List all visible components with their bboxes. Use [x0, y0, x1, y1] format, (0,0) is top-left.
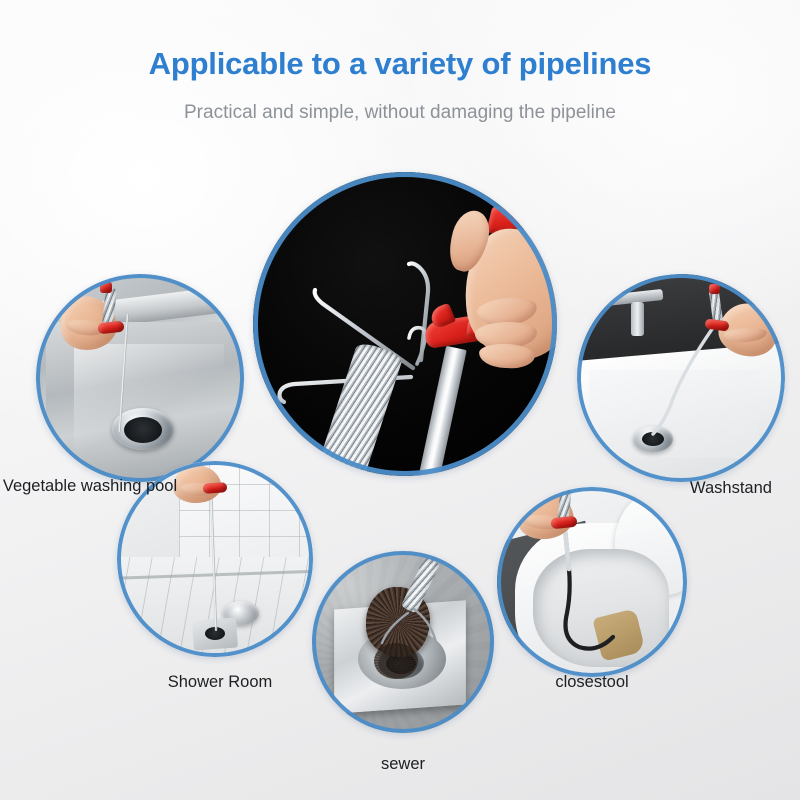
scene-sewer: [312, 551, 494, 733]
red-end-cap: [100, 282, 112, 293]
label-vegetable-washing-pool: Vegetable washing pool: [0, 476, 180, 497]
label-closestool: closestool: [497, 672, 687, 693]
label-shower-room: Shower Room: [126, 672, 314, 693]
label-sewer: sewer: [312, 754, 494, 775]
scene-washstand: [577, 274, 785, 482]
scene-vegetable-washing-pool: [36, 274, 244, 482]
scene-closestool: [497, 487, 687, 677]
product-closeup-illustration: [253, 172, 557, 476]
red-grip-handle: [203, 482, 228, 494]
claw-grabber-icon: [312, 551, 494, 733]
sewer-illustration: [312, 551, 494, 733]
scene-product-closeup: [253, 172, 557, 476]
label-washstand: Washstand: [663, 478, 799, 499]
washstand-illustration: [577, 274, 785, 482]
red-end-cap: [709, 284, 720, 294]
sink-illustration: [36, 274, 244, 482]
sink-drain-hole: [124, 417, 162, 443]
page-title: Applicable to a variety of pipelines: [0, 46, 800, 82]
closestool-illustration: [497, 487, 687, 677]
infographic-canvas: Applicable to a variety of pipelines Pra…: [0, 0, 800, 800]
page-subtitle: Practical and simple, without damaging t…: [0, 102, 800, 124]
